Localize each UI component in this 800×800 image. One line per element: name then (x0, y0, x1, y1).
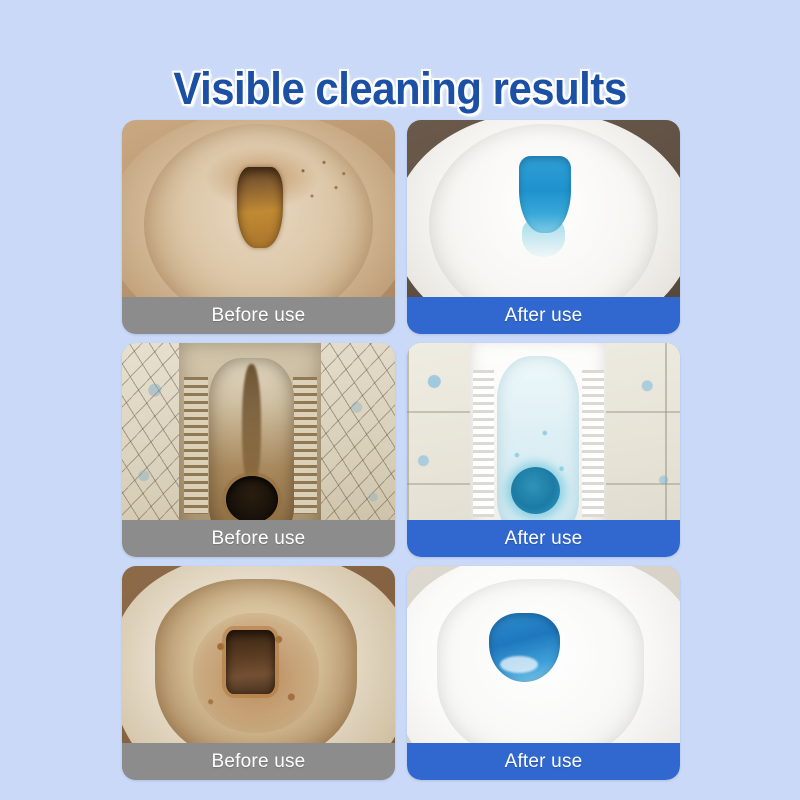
before-card-row3[interactable]: Before use (122, 566, 395, 780)
comparison-row: Before use After use (122, 343, 680, 557)
comparison-grid: Before use After use (122, 120, 680, 780)
page-title: Visible cleaning results (28, 63, 772, 115)
after-label-bar-row1: After use (407, 297, 680, 334)
before-label-bar-row1: Before use (122, 297, 395, 334)
before-label-text: Before use (212, 751, 306, 773)
after-label-text: After use (505, 528, 583, 550)
toilet-drain (226, 476, 278, 523)
before-label-bar-row2: Before use (122, 520, 395, 557)
comparison-row: Before use After use (122, 566, 680, 780)
after-card-row3[interactable]: After use (407, 566, 680, 780)
toilet-drain (237, 167, 283, 248)
after-label-text: After use (505, 751, 583, 773)
after-label-text: After use (505, 305, 583, 327)
after-card-row2[interactable]: After use (407, 343, 680, 557)
before-label-text: Before use (212, 305, 306, 327)
after-card-row1[interactable]: After use (407, 120, 680, 334)
grime-streak (242, 364, 261, 488)
comparison-row: Before use After use (122, 120, 680, 334)
before-label-bar-row3: Before use (122, 743, 395, 780)
blue-cleaning-liquid (519, 156, 571, 233)
gloss-highlight (500, 656, 538, 673)
before-label-text: Before use (212, 528, 306, 550)
toilet-drain (226, 630, 275, 694)
blue-cleaning-liquid (511, 467, 560, 514)
stain-specks (291, 154, 351, 210)
after-label-bar-row3: After use (407, 743, 680, 780)
before-card-row1[interactable]: Before use (122, 120, 395, 334)
after-label-bar-row2: After use (407, 520, 680, 557)
before-card-row2[interactable]: Before use (122, 343, 395, 557)
